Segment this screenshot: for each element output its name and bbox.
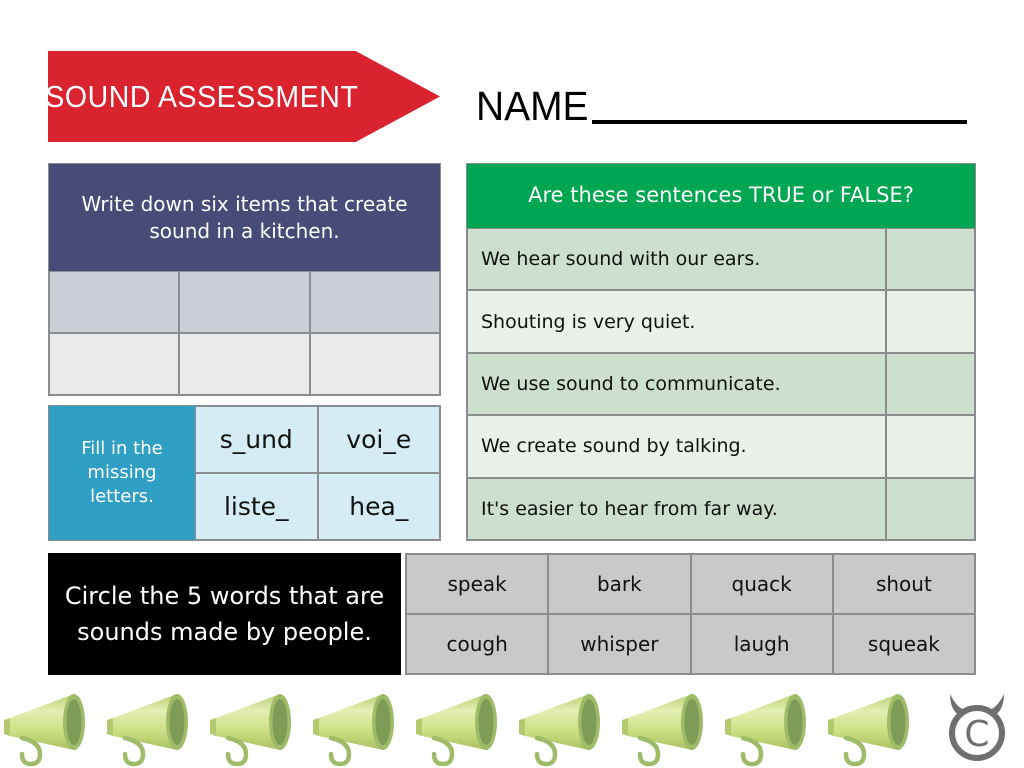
megaphone-icon — [103, 686, 206, 768]
kitchen-sounds-task: Write down six items that create sound i… — [48, 163, 441, 396]
kitchen-answer-cell[interactable] — [49, 271, 179, 333]
table-row: We hear sound with our ears. — [467, 228, 975, 290]
name-label: NAME — [476, 86, 589, 127]
true-false-task: Are these sentences TRUE or FALSE? We he… — [466, 163, 976, 541]
missing-letters-word[interactable]: voi_e — [318, 406, 441, 473]
true-false-statement: It's easier to hear from far way. — [467, 478, 886, 540]
circle-words-grid: speak bark quack shout cough whisper lau… — [405, 553, 976, 675]
true-false-statement: We use sound to communicate. — [467, 353, 886, 415]
missing-letters-word[interactable]: s_und — [195, 406, 318, 473]
megaphone-icon — [515, 686, 618, 768]
kitchen-answer-cell[interactable] — [179, 333, 309, 395]
true-false-answer-cell[interactable] — [886, 290, 975, 352]
megaphone-icon — [412, 686, 515, 768]
kitchen-answer-grid — [49, 271, 440, 395]
true-false-answer-cell[interactable] — [886, 228, 975, 290]
true-false-statement: We create sound by talking. — [467, 415, 886, 477]
missing-letters-instruction: Fill in the missing letters. — [49, 406, 195, 540]
missing-letters-task: Fill in the missing letters. s_und voi_e… — [48, 405, 441, 541]
word-option[interactable]: shout — [833, 554, 975, 614]
kitchen-answer-cell[interactable] — [310, 333, 440, 395]
true-false-statement: Shouting is very quiet. — [467, 290, 886, 352]
circle-words-instruction: Circle the 5 words that are sounds made … — [48, 553, 401, 675]
kitchen-task-instruction: Write down six items that create sound i… — [49, 164, 440, 271]
table-row: Shouting is very quiet. — [467, 290, 975, 352]
word-option[interactable]: whisper — [548, 614, 690, 674]
kitchen-answer-cell[interactable] — [310, 271, 440, 333]
copyright-icon: C — [938, 688, 1016, 766]
kitchen-answer-cell[interactable] — [49, 333, 179, 395]
megaphone-icon — [824, 686, 927, 768]
sound-assessment-banner: SOUND ASSESSMENT — [48, 51, 440, 142]
word-option[interactable]: laugh — [691, 614, 833, 674]
megaphone-icon — [206, 686, 309, 768]
true-false-answer-cell[interactable] — [886, 415, 975, 477]
megaphone-icon — [309, 686, 412, 768]
word-option[interactable]: squeak — [833, 614, 975, 674]
word-option[interactable]: cough — [406, 614, 548, 674]
megaphone-icon — [721, 686, 824, 768]
table-row: We create sound by talking. — [467, 415, 975, 477]
name-field-row: NAME — [476, 86, 967, 127]
megaphone-decoration-strip — [0, 686, 1024, 768]
missing-letters-word[interactable]: liste_ — [195, 473, 318, 540]
name-blank-line[interactable] — [592, 120, 967, 124]
page-title: SOUND ASSESSMENT — [60, 51, 343, 142]
svg-text:C: C — [964, 714, 989, 755]
true-false-instruction: Are these sentences TRUE or FALSE? — [467, 164, 975, 228]
table-row: We use sound to communicate. — [467, 353, 975, 415]
megaphone-icon — [0, 686, 103, 768]
true-false-statement: We hear sound with our ears. — [467, 228, 886, 290]
table-row: It's easier to hear from far way. — [467, 478, 975, 540]
true-false-answer-cell[interactable] — [886, 353, 975, 415]
true-false-answer-cell[interactable] — [886, 478, 975, 540]
word-option[interactable]: speak — [406, 554, 548, 614]
missing-letters-grid: s_und voi_e liste_ hea_ — [195, 406, 440, 540]
megaphone-icon — [618, 686, 721, 768]
word-option[interactable]: quack — [691, 554, 833, 614]
missing-letters-word[interactable]: hea_ — [318, 473, 441, 540]
true-false-rows: We hear sound with our ears. Shouting is… — [467, 228, 975, 540]
word-option[interactable]: bark — [548, 554, 690, 614]
kitchen-answer-cell[interactable] — [179, 271, 309, 333]
